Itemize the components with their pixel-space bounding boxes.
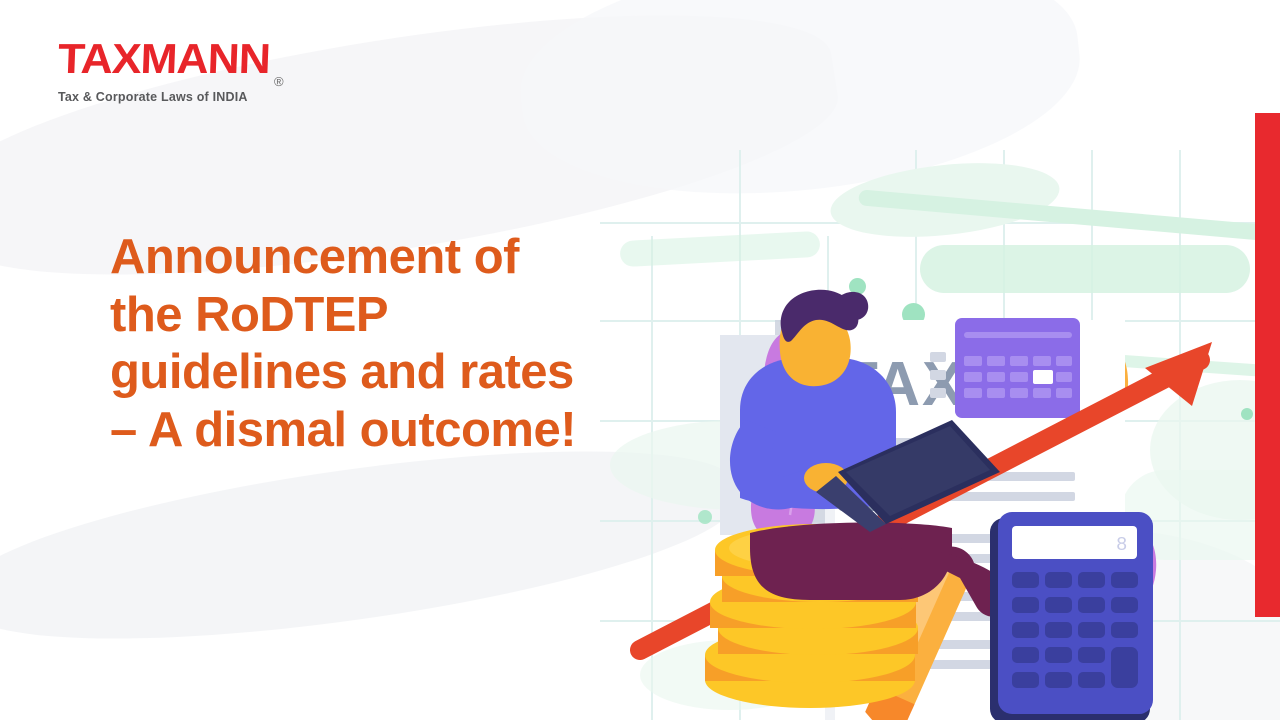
brand-logo[interactable]: TAXMANN ® Tax & Corporate Laws of INDIA (58, 38, 308, 104)
calculator-equals-key (1111, 647, 1138, 688)
calculator-icon: 8 (990, 512, 1153, 720)
calculator-display-value: 8 (1116, 534, 1127, 556)
blog-banner: TAXMANN ® Tax & Corporate Laws of INDIA … (0, 0, 1280, 720)
document-mark (930, 370, 946, 380)
calendar-icon (955, 318, 1080, 418)
page-title: Announcement of the RoDTEP guidelines an… (110, 229, 580, 460)
document-mark (930, 352, 946, 362)
document-mark (930, 388, 946, 398)
registered-trademark-icon: ® (274, 74, 284, 89)
brand-tagline: Tax & Corporate Laws of INDIA (58, 90, 308, 104)
brand-wordmark: TAXMANN (57, 38, 270, 80)
hero-illustration: TAX (600, 120, 1280, 720)
calendar-selected-day (1033, 370, 1053, 384)
